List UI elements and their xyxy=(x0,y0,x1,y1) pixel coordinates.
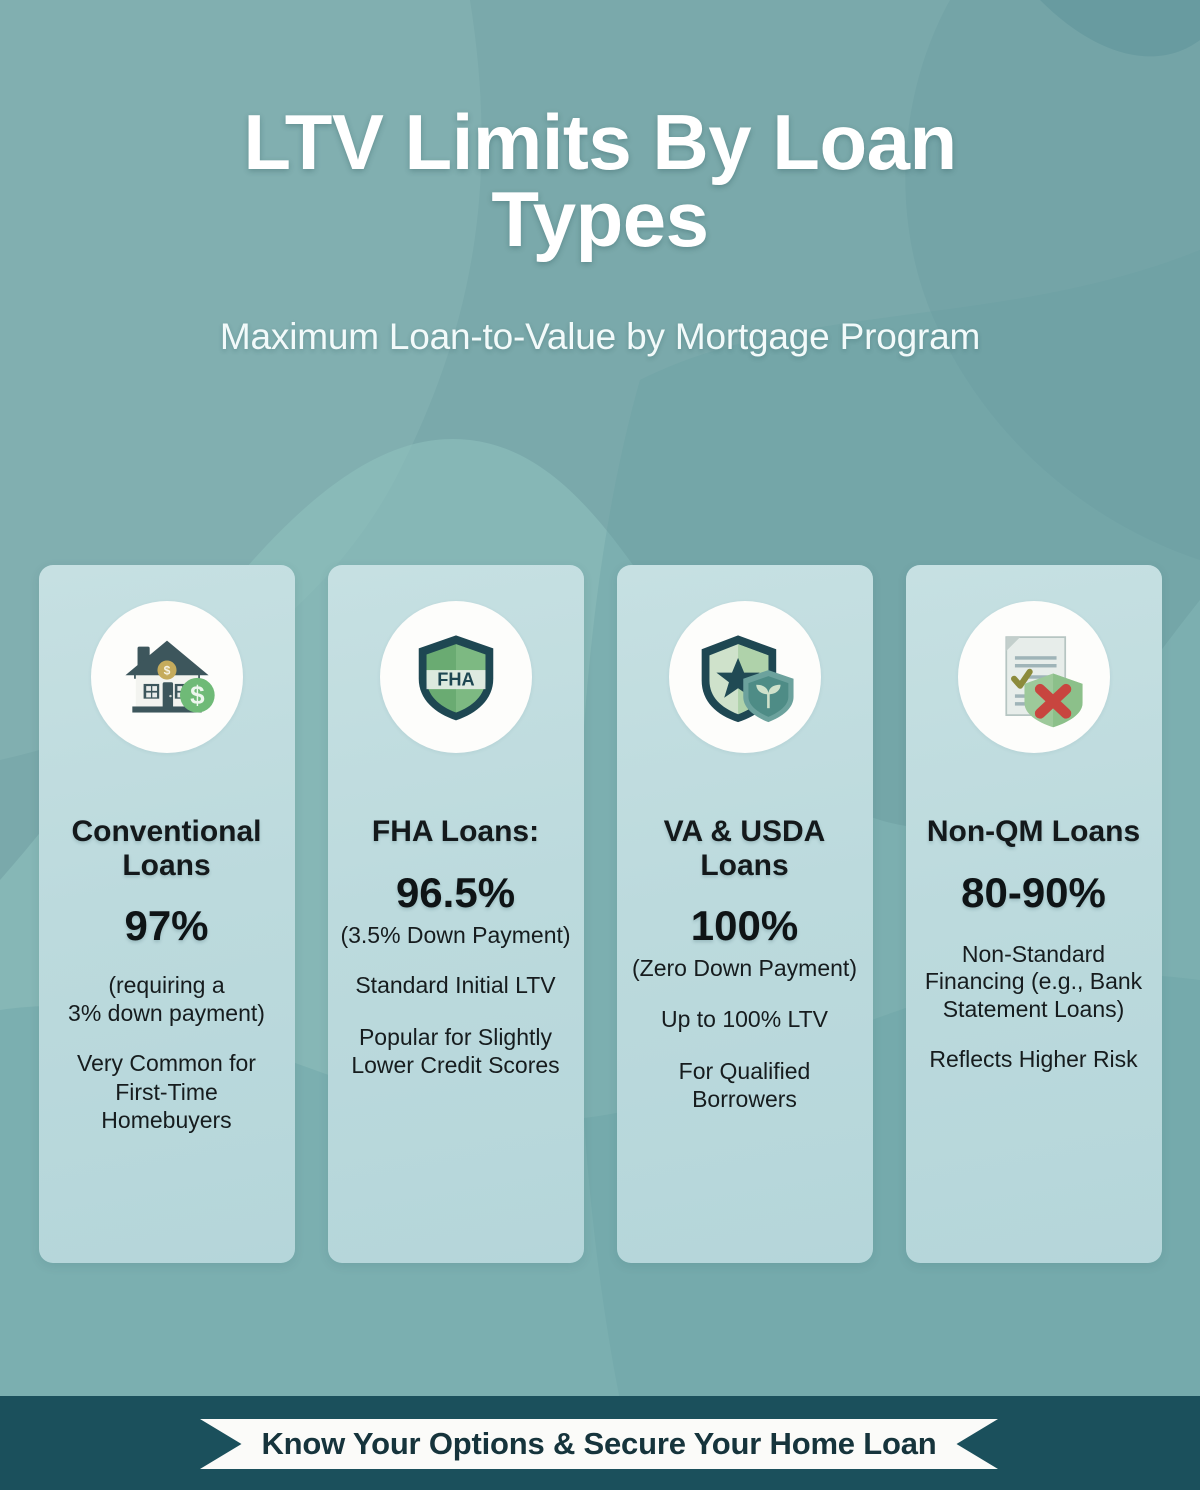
svg-text:$: $ xyxy=(163,663,170,677)
card-va-usda-loans[interactable]: VA & USDA Loans 100% (Zero Down Payment)… xyxy=(617,565,873,1263)
card-subtext: Non-Standard Financing (e.g., Bank State… xyxy=(916,941,1152,1024)
card-fha-loans[interactable]: FHA FHA Loans: 96.5% (3.5% Down Payment)… xyxy=(328,565,584,1263)
card-non-qm-loans[interactable]: Non-QM Loans 80-90% Non-Standard Financi… xyxy=(906,565,1162,1263)
footer-ribbon: Know Your Options & Secure Your Home Loa… xyxy=(200,1419,998,1469)
card-detail-lines: Reflects Higher Risk xyxy=(916,1045,1152,1073)
star-shield-leaf-icon xyxy=(669,601,821,753)
loan-type-cards: $ $ Conventional Loans 97% (requiring a … xyxy=(0,565,1200,1263)
card-detail-line: Very Common for First-Time Homebuyers xyxy=(49,1049,285,1133)
document-shield-x-icon xyxy=(958,601,1110,753)
card-value: 96.5% xyxy=(396,871,515,915)
card-detail-line: Reflects Higher Risk xyxy=(916,1045,1152,1073)
card-value: 97% xyxy=(124,904,208,948)
card-conventional-loans[interactable]: $ $ Conventional Loans 97% (requiring a … xyxy=(39,565,295,1263)
card-detail-line: Up to 100% LTV xyxy=(627,1005,863,1033)
card-title: FHA Loans: xyxy=(372,815,539,849)
card-detail-lines: Up to 100% LTV For Qualified Borrowers xyxy=(627,1005,863,1113)
svg-text:FHA: FHA xyxy=(437,670,474,690)
footer-banner-text: Know Your Options & Secure Your Home Loa… xyxy=(261,1426,936,1462)
card-detail-lines: Standard Initial LTV Popular for Slightl… xyxy=(338,971,574,1079)
card-detail-line: For Qualified Borrowers xyxy=(627,1057,863,1113)
card-value: 80-90% xyxy=(961,871,1106,915)
card-title: VA & USDA Loans xyxy=(627,815,863,882)
card-detail-lines: Very Common for First-Time Homebuyers xyxy=(49,1049,285,1133)
house-with-dollar-icon: $ $ xyxy=(91,601,243,753)
card-subtext: (requiring a 3% down payment) xyxy=(68,972,265,1027)
card-detail-line: Popular for Slightly Lower Credit Scores xyxy=(338,1023,574,1079)
header: LTV Limits By Loan Types Maximum Loan-to… xyxy=(0,0,1200,358)
card-value: 100% xyxy=(691,904,798,948)
page-title: LTV Limits By Loan Types xyxy=(0,104,1200,258)
card-subtext: (3.5% Down Payment) xyxy=(340,922,570,950)
card-detail-line: Standard Initial LTV xyxy=(338,971,574,999)
page-subtitle: Maximum Loan-to-Value by Mortgage Progra… xyxy=(0,316,1200,358)
card-title: Conventional Loans xyxy=(49,815,285,882)
fha-shield-icon: FHA xyxy=(380,601,532,753)
svg-text:$: $ xyxy=(190,680,205,710)
card-title: Non-QM Loans xyxy=(927,815,1140,849)
card-subtext: (Zero Down Payment) xyxy=(632,955,857,983)
